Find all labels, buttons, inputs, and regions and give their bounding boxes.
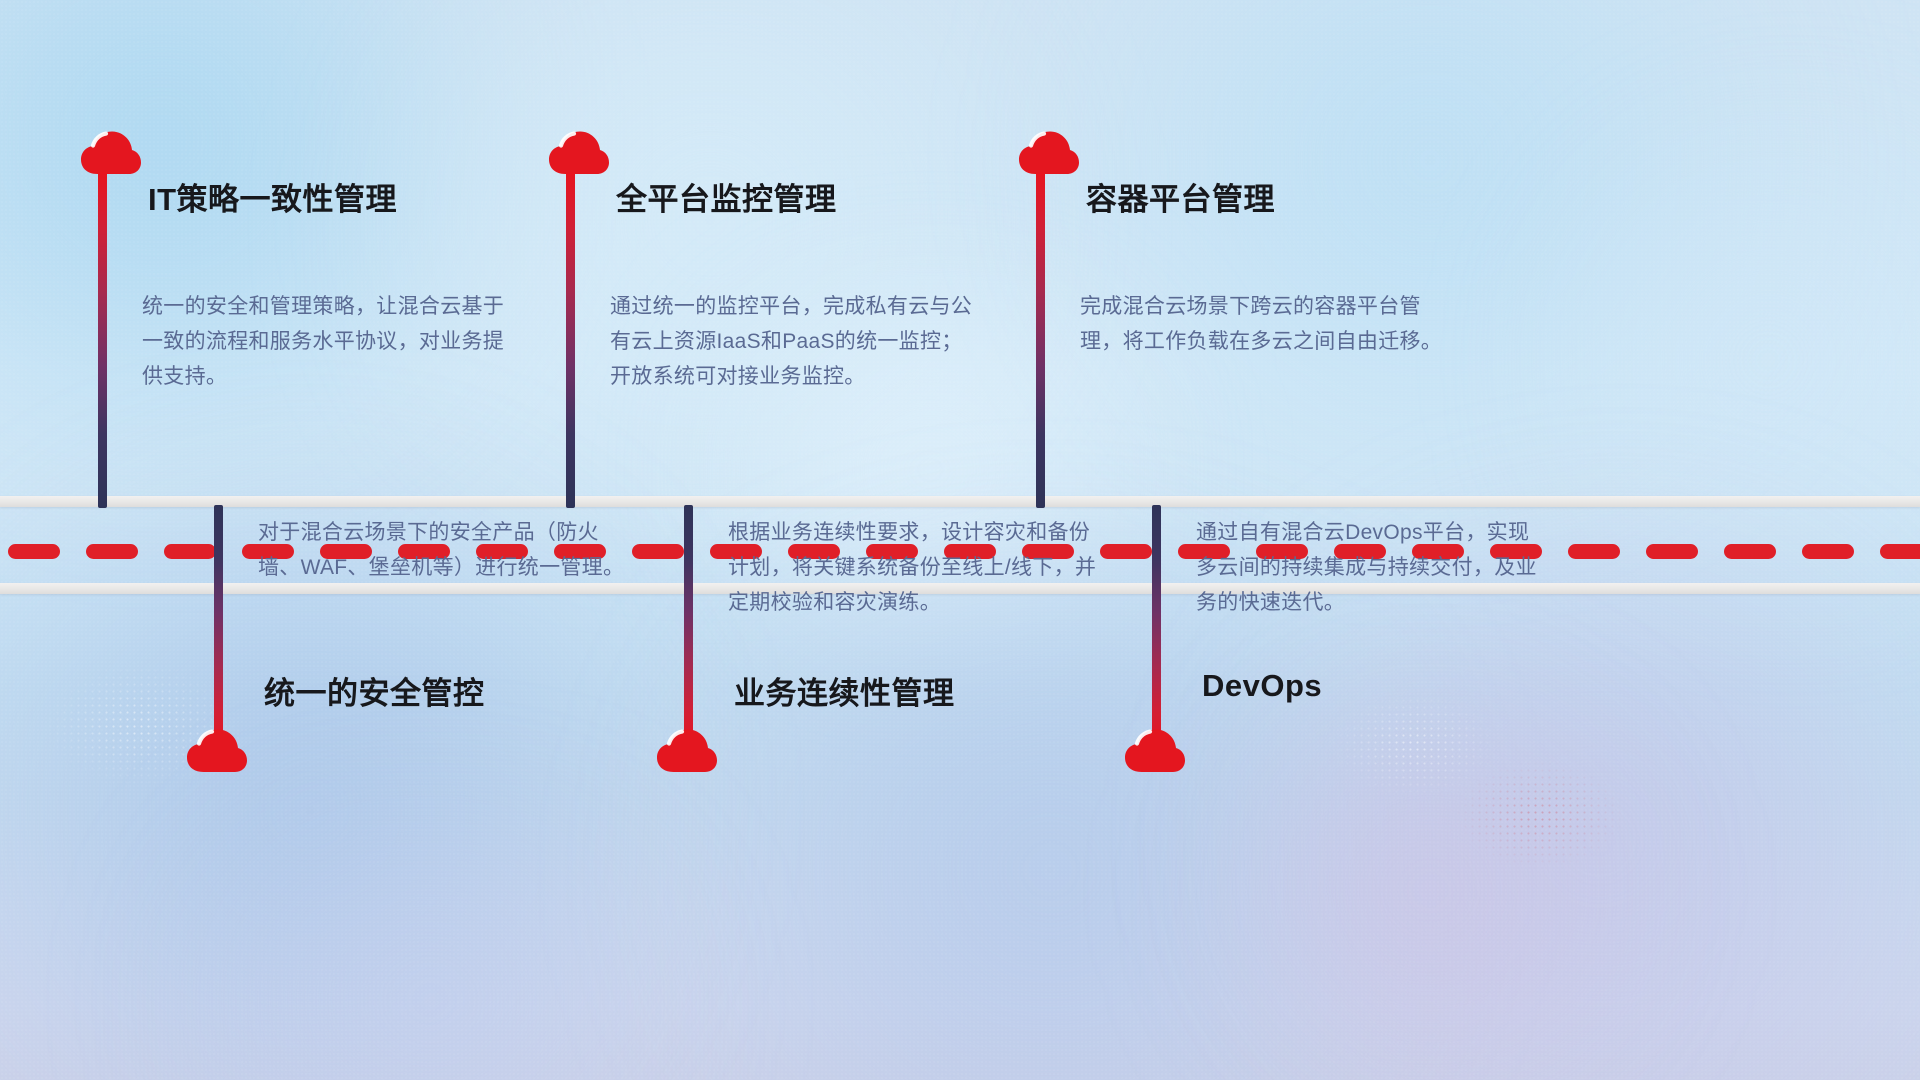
cloud-icon [1124, 728, 1186, 774]
connector-line [566, 172, 575, 508]
cloud-icon [80, 130, 142, 176]
item-title: IT策略一致性管理 [148, 174, 397, 219]
road-dash [1100, 544, 1152, 559]
item-title: 统一的安全管控 [264, 668, 485, 713]
item-description: 完成混合云场景下跨云的容器平台管理，将工作负载在多云之间自由迁移。 [1080, 289, 1450, 359]
item-description: 通过统一的监控平台，完成私有云与公有云上资源IaaS和PaaS的统一监控；开放系… [610, 289, 980, 394]
road-edge-top [0, 496, 1920, 507]
item-title: DevOps [1202, 668, 1322, 704]
item-title: 容器平台管理 [1086, 174, 1275, 219]
road-dash [8, 544, 60, 559]
item-description: 对于混合云场景下的安全产品（防火墙、WAF、堡垒机等）进行统一管理。 [258, 515, 628, 585]
item-title: 业务连续性管理 [734, 668, 955, 713]
item-description: 根据业务连续性要求，设计容灾和备份计划，将关键系统备份至线上/线下，并定期校验和… [728, 515, 1098, 620]
item-description: 通过自有混合云DevOps平台，实现多云间的持续集成与持续交付，及业务的快速迭代… [1196, 515, 1546, 620]
connector-line [1152, 505, 1161, 750]
connector-line [214, 505, 223, 750]
road-dash [1802, 544, 1854, 559]
road-dash [164, 544, 216, 559]
road-dash [1568, 544, 1620, 559]
decorative-dots [1455, 760, 1625, 870]
connector-line [684, 505, 693, 750]
cloud-icon [186, 728, 248, 774]
item-title: 全平台监控管理 [616, 174, 837, 219]
cloud-icon [548, 130, 610, 176]
road-dash [1646, 544, 1698, 559]
item-description: 统一的安全和管理策略，让混合云基于一致的流程和服务水平协议，对业务提供支持。 [142, 289, 512, 394]
road-dash [1880, 544, 1920, 559]
road-dash [1724, 544, 1776, 559]
connector-line [98, 172, 107, 508]
cloud-icon [656, 728, 718, 774]
cloud-icon [1018, 130, 1080, 176]
infographic-stage: IT策略一致性管理 统一的安全和管理策略，让混合云基于一致的流程和服务水平协议，… [0, 0, 1920, 1080]
road-dash [86, 544, 138, 559]
connector-line [1036, 172, 1045, 508]
road-dash [632, 544, 684, 559]
